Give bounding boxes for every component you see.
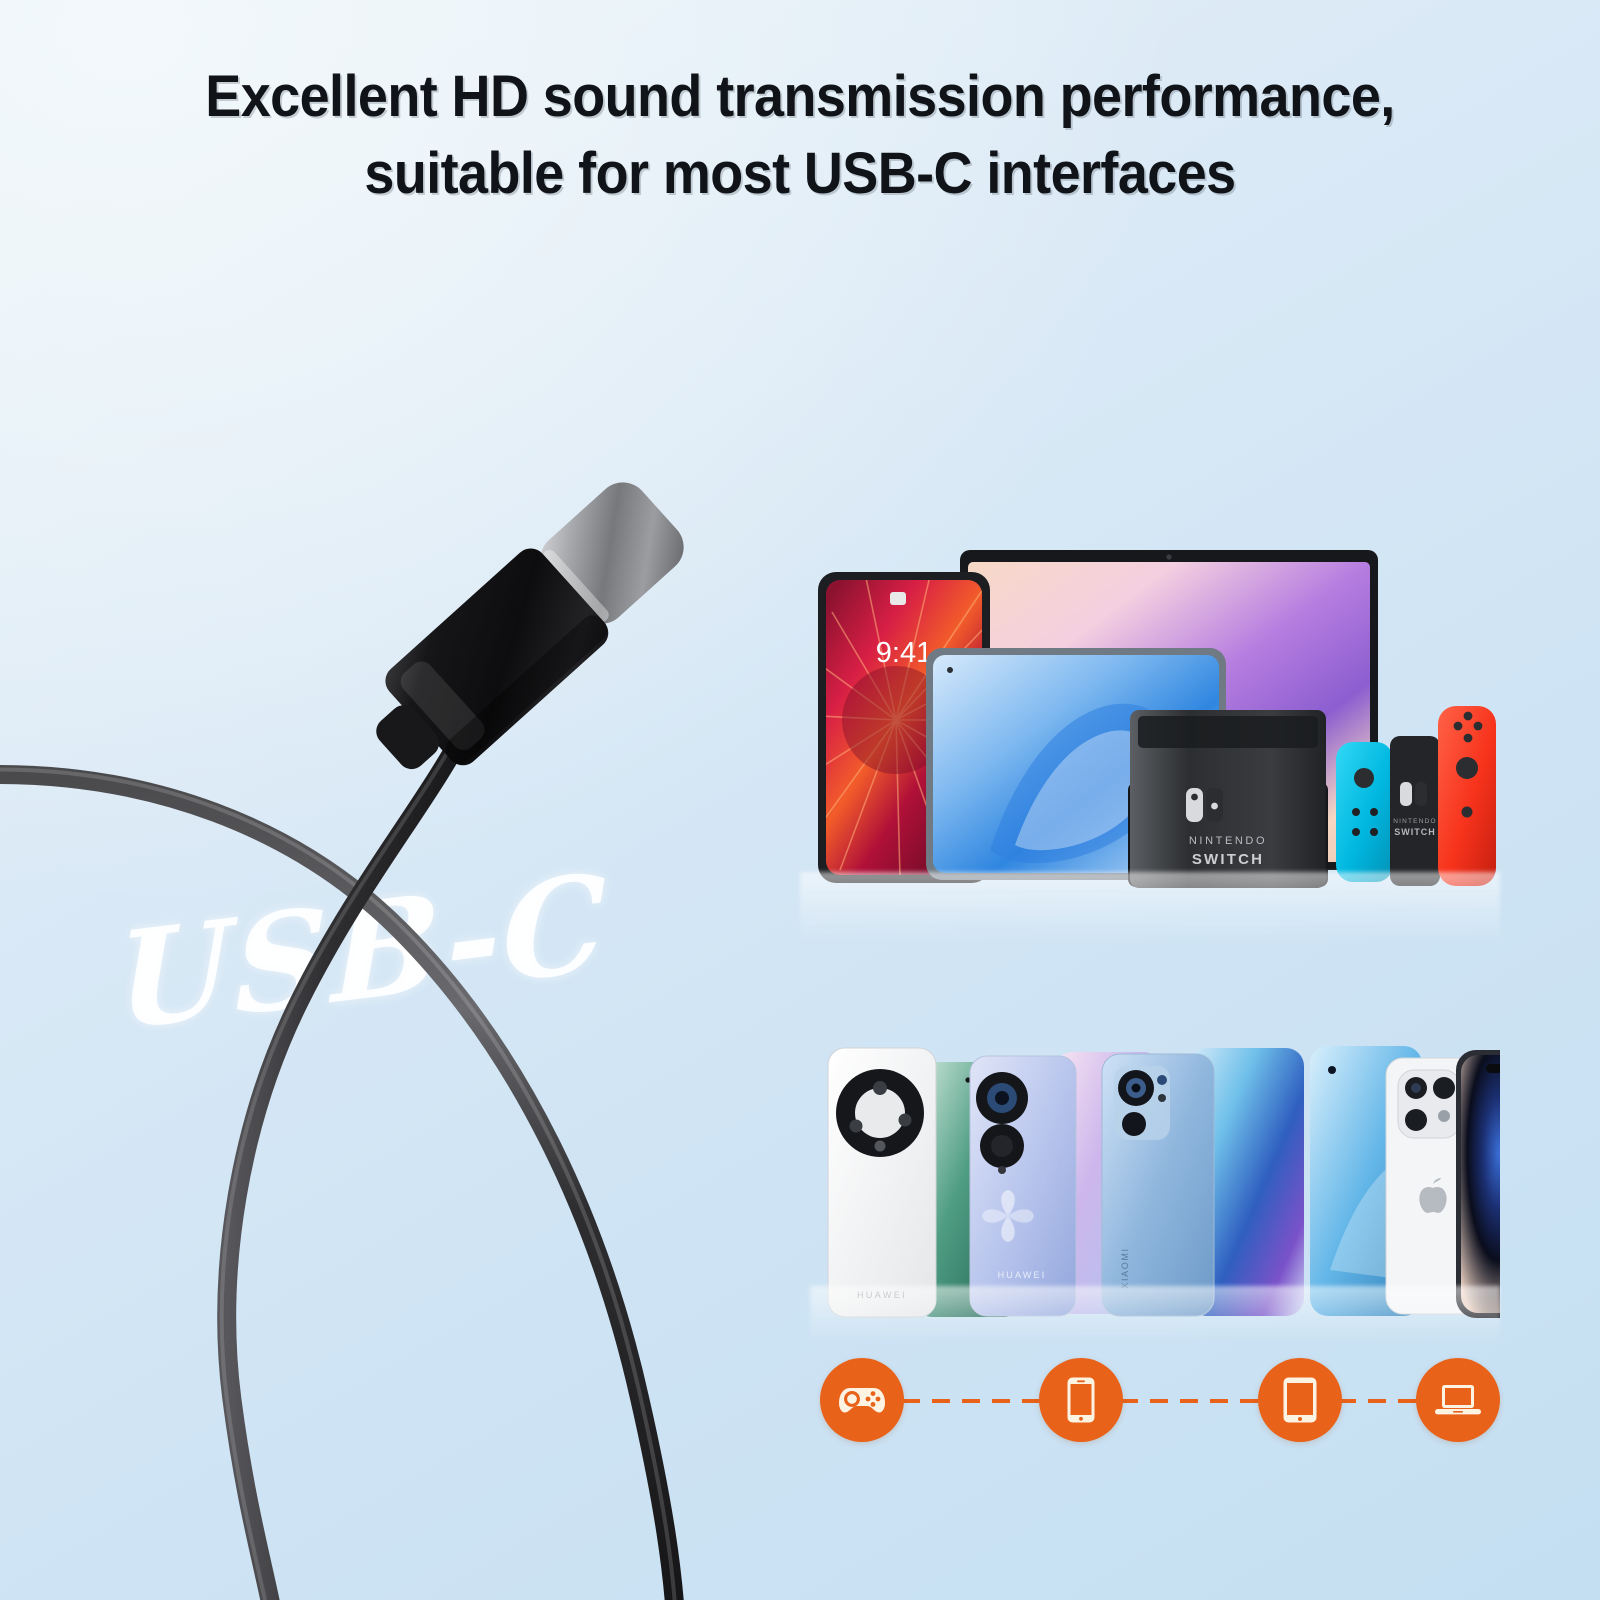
ipad-clock-time: 9:41	[876, 637, 932, 669]
xiaomi-brand: XIAOMI	[1120, 1247, 1130, 1288]
usb-c-connector	[349, 464, 701, 798]
flow-dash-2	[1120, 1399, 1262, 1403]
switch-brand-line1: NINTENDO	[1189, 835, 1267, 847]
tablet-icon[interactable]	[1258, 1358, 1342, 1442]
cable-highlight-outer	[0, 769, 675, 1600]
smartphone-icon[interactable]	[1039, 1358, 1123, 1442]
cable-strand-inner	[227, 720, 470, 1600]
laptop-webcam-icon	[1166, 554, 1171, 559]
device-nintendo-switch-dock: NINTENDO SWITCH	[1128, 710, 1328, 888]
device-iphone-14-pro-front	[1456, 1050, 1500, 1318]
huawei-mate-brand: HUAWEI	[857, 1290, 907, 1300]
flow-dash-1	[902, 1399, 1044, 1403]
huawei-nova-brand: HUAWEI	[998, 1270, 1047, 1280]
flow-dash-3	[1338, 1399, 1420, 1403]
product-marketing-image: Excellent HD sound transmission performa…	[0, 0, 1600, 1600]
laptop-icon[interactable]	[1416, 1358, 1500, 1442]
switch-brand-line2: SWITCH	[1192, 851, 1264, 868]
device-compatibility-flow	[820, 1358, 1500, 1448]
compatible-smartphones-group: HUAWEI HUAWEI	[810, 1020, 1500, 1320]
grip-brand-line2: SWITCH	[1394, 827, 1436, 837]
compatible-tablets-laptop-console-group: 9:41	[800, 520, 1500, 920]
device-xiaomi-mi11-blue: XIAOMI	[1102, 1048, 1304, 1316]
grip-brand-line1: NINTENDO	[1393, 818, 1437, 825]
dynamic-island-icon	[1486, 1064, 1500, 1073]
cable-highlight-inner	[222, 720, 465, 1600]
gamepad-icon[interactable]	[820, 1358, 904, 1442]
